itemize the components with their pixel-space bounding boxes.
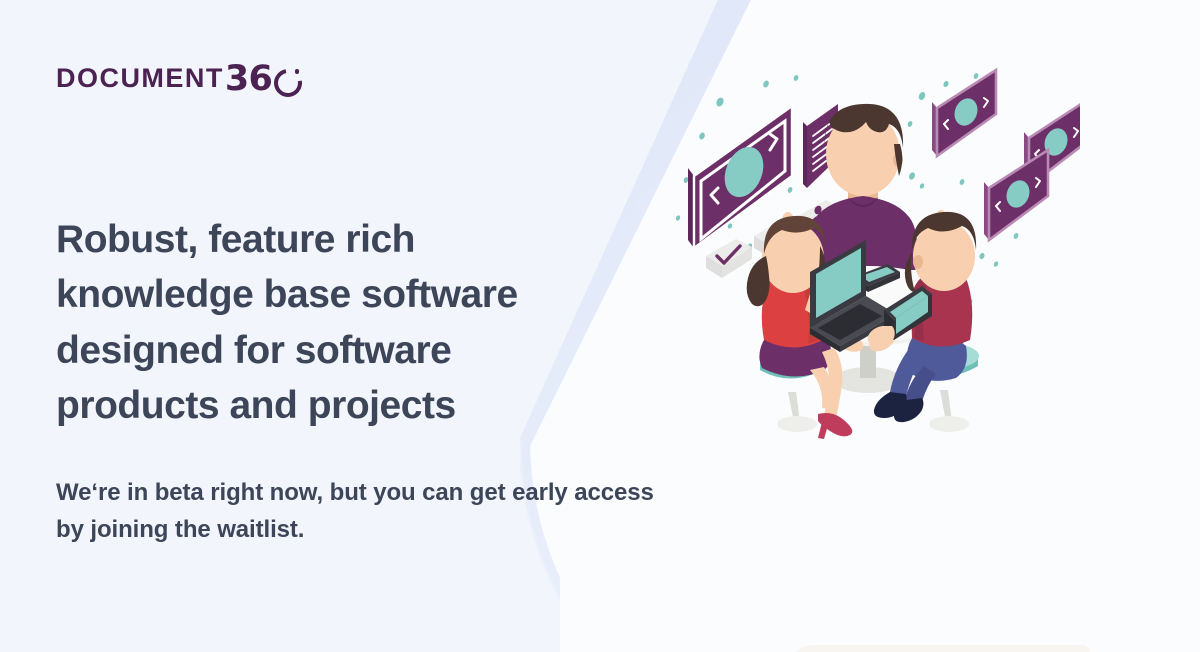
checkmark-card: [706, 239, 752, 278]
hero-subtitle: We‘re in beta right now, but you can get…: [56, 474, 656, 549]
team-collaboration-illustration: [660, 40, 1080, 460]
background-bottom-sliver: [790, 645, 1090, 652]
document360-logo[interactable]: DOCUMENT 36: [56, 58, 300, 98]
floating-screen-1: [932, 70, 996, 156]
logo-wordmark: DOCUMENT: [56, 65, 224, 92]
logo-ring-icon: [274, 69, 300, 95]
hero-banner: DOCUMENT 36 Robust, feature rich knowled…: [0, 0, 1200, 652]
page-title: Robust, feature rich knowledge base soft…: [56, 212, 616, 434]
hero-content: DOCUMENT 36 Robust, feature rich knowled…: [56, 0, 676, 652]
logo-number: 36: [225, 62, 272, 97]
floating-screen-3: [984, 150, 1048, 240]
